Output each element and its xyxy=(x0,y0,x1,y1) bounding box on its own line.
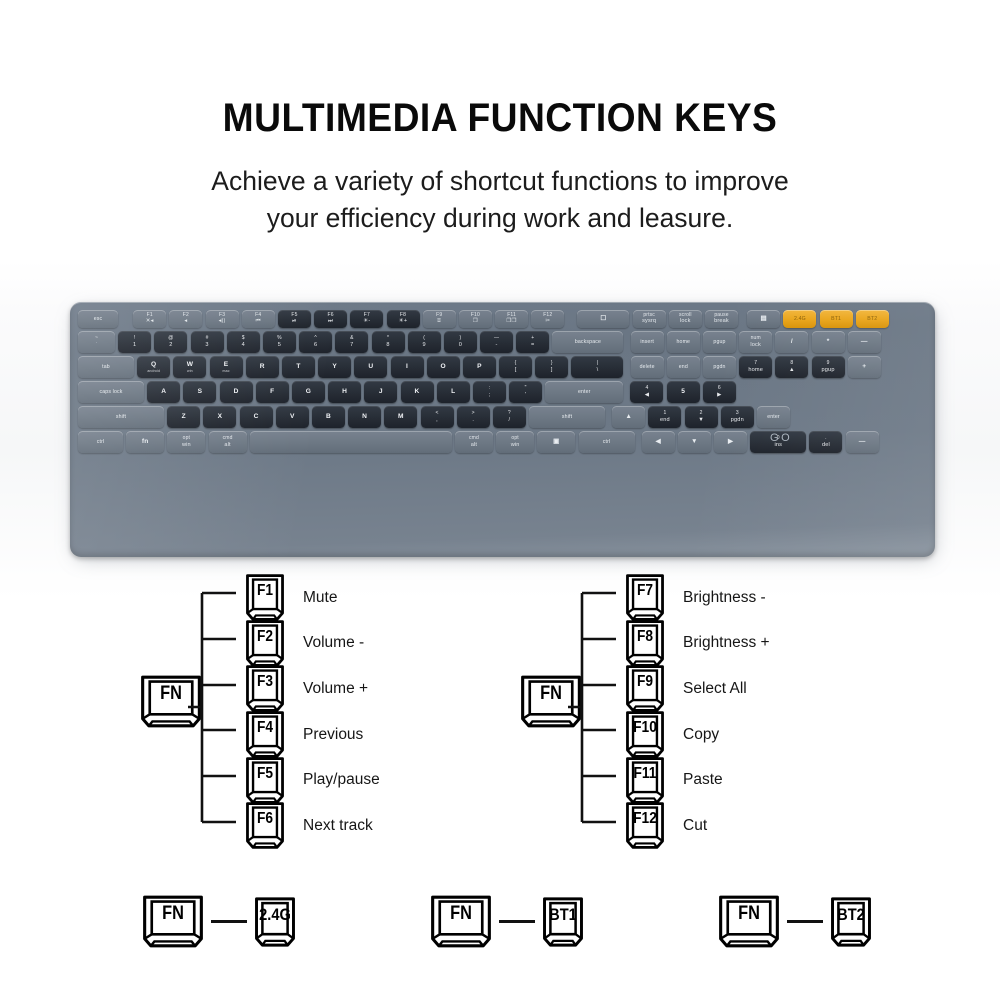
key-legend: * xyxy=(827,338,830,346)
kb-key-f2[interactable]: F2◂ xyxy=(169,310,202,328)
key-legend: ◀ xyxy=(656,438,661,446)
page-title: MULTIMEDIA FUNCTION KEYS xyxy=(35,96,965,141)
kb-key-5[interactable]: 5 xyxy=(667,381,700,403)
kb-key-home[interactable]: home xyxy=(667,331,700,353)
kb-key-cmd-alt[interactable]: cmdalt xyxy=(455,431,493,453)
key-legend: shift xyxy=(562,414,572,420)
key-legend-bottom: ✕◂ xyxy=(146,318,154,325)
key-legend: H xyxy=(342,388,347,396)
kb-key-end[interactable]: end xyxy=(667,356,700,378)
key-legend: ctrl xyxy=(603,439,611,445)
function-label: Volume - xyxy=(303,634,364,652)
brand-logo: GO xyxy=(770,432,792,444)
kb-key-f3[interactable]: F3◂)) xyxy=(206,310,239,328)
kb-key-backspace[interactable]: backspace xyxy=(552,331,623,353)
keycap-label: F1 xyxy=(248,582,282,600)
kb-key-f8[interactable]: F8☀+ xyxy=(387,310,420,328)
key-legend-bottom: ⏯ xyxy=(292,318,297,325)
keyboard-row-shift: shiftZXCVBNM<,>.?/shift▲1end2▼3pgdnenter xyxy=(78,406,793,428)
kb-key-f5[interactable]: F5⏯ xyxy=(278,310,311,328)
keycap-f10[interactable]: F10 xyxy=(625,711,665,758)
keycap-f2[interactable]: F2 xyxy=(245,620,285,667)
keycap-label: F6 xyxy=(248,810,282,828)
kb-key-cmd-alt[interactable]: cmdalt xyxy=(209,431,247,453)
kb-key-w[interactable]: Wwin xyxy=(173,356,206,378)
function-label: Previous xyxy=(303,726,363,744)
kb-key-m[interactable]: M xyxy=(384,406,417,428)
kb-key-blank[interactable]: — xyxy=(846,431,879,453)
kb-key-blank[interactable]: }] xyxy=(535,356,568,378)
kb-key-y[interactable]: Y xyxy=(318,356,351,378)
kb-key-blank[interactable]: ?/ xyxy=(493,406,526,428)
combo-2-4g: FN2.4G xyxy=(142,895,296,948)
key-legend: E xyxy=(224,361,229,369)
kb-key-blank[interactable]: ▶ xyxy=(714,431,747,453)
diagram-rows-left: F1MuteF2Volume -F3Volume +F4PreviousF5Pl… xyxy=(245,575,380,849)
key-legend-bottom: 3 xyxy=(205,342,208,349)
key-legend: D xyxy=(234,388,239,396)
kb-key-8[interactable]: *8 xyxy=(372,331,405,353)
kb-key-blank[interactable]: >. xyxy=(457,406,490,428)
key-legend: O xyxy=(441,363,446,371)
combo-bt1: FNBT1 xyxy=(430,895,584,948)
kb-key-blank[interactable]: :; xyxy=(473,381,506,403)
function-label: Next track xyxy=(303,817,373,835)
kb-key-z[interactable]: Z xyxy=(167,406,200,428)
key-legend-bottom: ❐ xyxy=(473,318,478,325)
keycap-label: F7 xyxy=(628,582,662,600)
key-legend: backspace xyxy=(575,339,601,345)
key-legend-bottom: ; xyxy=(489,392,491,399)
keycap-label: 2.4G xyxy=(257,905,293,925)
kb-key-enter[interactable]: enter xyxy=(757,406,790,428)
kb-key-blank[interactable]: * xyxy=(812,331,845,353)
key-legend-bottom: ❐❐ xyxy=(506,318,516,325)
keycap-f4[interactable]: F4 xyxy=(245,711,285,758)
kb-key-7-home[interactable]: 7home xyxy=(739,356,772,378)
connector-line xyxy=(499,920,535,923)
pairing-combos: FN2.4G FNBT1 FNBT2 xyxy=(0,895,1000,965)
key-legend-bottom: ◀ xyxy=(645,392,649,399)
key-legend-bottom: ◂ xyxy=(184,318,187,325)
kb-key-blank[interactable]: <, xyxy=(421,406,454,428)
key-legend: S xyxy=(198,388,203,396)
kb-key-1[interactable]: !1 xyxy=(118,331,151,353)
key-legend-bottom: ☀+ xyxy=(399,318,408,325)
key-legend: Y xyxy=(332,363,337,371)
kb-key-blank[interactable]: "' xyxy=(509,381,542,403)
key-legend-bottom: ' xyxy=(525,392,526,399)
kb-key-blank[interactable]: —- xyxy=(480,331,513,353)
keyboard-row-number: ~`!1@2#3$4%5^6&7*8(9)0—-+=backspaceinser… xyxy=(78,331,884,353)
diagram-row: F6Next track xyxy=(245,803,380,849)
key-legend: Z xyxy=(182,413,186,421)
tree-connector-right xyxy=(520,575,625,865)
keyboard-key-area: escF1✕◂F2◂F3◂))F4⏮F5⏯F6⏭F7☀-F8☀+F9⌸F10❐F… xyxy=(78,310,927,550)
key-legend: 5 xyxy=(681,388,685,396)
key-legend: esc xyxy=(94,316,103,322)
keycap-f11[interactable]: F11 xyxy=(625,757,665,804)
kb-key-7[interactable]: &7 xyxy=(335,331,368,353)
keycap-f6[interactable]: F6 xyxy=(245,802,285,849)
kb-key-blank[interactable]: / xyxy=(775,331,808,353)
key-legend-bottom: 1 xyxy=(133,342,136,349)
kb-key-num-lock[interactable]: numlock xyxy=(739,331,772,353)
keycap-f8[interactable]: F8 xyxy=(625,620,665,667)
diagram-row: F1Mute xyxy=(245,575,380,621)
kb-key-f7[interactable]: F7☀- xyxy=(350,310,383,328)
kb-key-blank[interactable]: + xyxy=(848,356,881,378)
kb-key-f10[interactable]: F10❐ xyxy=(459,310,492,328)
kb-key-6[interactable]: ^6 xyxy=(299,331,332,353)
kb-key-3-pgdn[interactable]: 3pgdn xyxy=(721,406,754,428)
keycap-fn[interactable]: FN xyxy=(142,895,204,948)
kb-key-9-pgup[interactable]: 9pgup xyxy=(812,356,845,378)
key-legend-bottom: = xyxy=(531,342,534,349)
kb-key-blank[interactable]: ~` xyxy=(78,331,115,353)
header: MULTIMEDIA FUNCTION KEYS Achieve a varie… xyxy=(0,0,1000,237)
key-legend-bottom: ⏮ xyxy=(256,318,261,325)
keycap-label: BT2 xyxy=(833,905,869,925)
kb-key-blank[interactable]: {[ xyxy=(499,356,532,378)
key-legend-bottom: . xyxy=(472,417,474,424)
keycap-f3[interactable]: F3 xyxy=(245,665,285,712)
key-legend-bottom: ` xyxy=(95,342,97,349)
key-legend: / xyxy=(791,338,793,346)
key-legend: ▲ xyxy=(625,413,632,421)
kb-key-j[interactable]: J xyxy=(364,381,397,403)
keycap-f1[interactable]: F1 xyxy=(245,574,285,621)
key-legend: ctrl xyxy=(97,439,105,445)
key-legend: N xyxy=(362,413,367,421)
key-legend: tab xyxy=(102,364,110,370)
key-legend: R xyxy=(260,363,265,371)
kb-key-ctrl[interactable]: ctrl xyxy=(78,431,123,453)
key-legend-bottom: - xyxy=(496,342,498,349)
kb-key-ctrl[interactable]: ctrl xyxy=(579,431,635,453)
kb-key-blank[interactable]: ▣ xyxy=(537,431,575,453)
connector-line xyxy=(211,920,247,923)
diagram-row: F11Paste xyxy=(625,757,770,803)
key-legend-bottom: ⏭ xyxy=(328,318,333,325)
kb-key-8[interactable]: 8▲ xyxy=(775,356,808,378)
kb-key-del[interactable]: .del xyxy=(809,431,842,453)
kb-key-n[interactable]: N xyxy=(348,406,381,428)
key-legend: ☐ xyxy=(600,315,606,323)
key-legend: L xyxy=(451,388,455,396)
key-legend-bottom: 0 xyxy=(459,342,462,349)
key-legend-bottom: 7 xyxy=(350,342,353,349)
kb-key-blank[interactable] xyxy=(250,431,452,453)
kb-key-r[interactable]: R xyxy=(246,356,279,378)
kb-key-6[interactable]: 6▶ xyxy=(703,381,736,403)
keycap-f5[interactable]: F5 xyxy=(245,757,285,804)
kb-key-blank[interactable]: |\ xyxy=(571,356,623,378)
kb-key-blank[interactable]: ▤ xyxy=(747,310,780,328)
key-legend: home xyxy=(677,339,691,345)
key-legend-bottom: lock xyxy=(750,342,761,349)
kb-key-v[interactable]: V xyxy=(276,406,309,428)
keycap-fn[interactable]: FN xyxy=(430,895,492,948)
key-legend: A xyxy=(161,388,166,396)
keycap-label: F4 xyxy=(248,719,282,737)
kb-key-5[interactable]: %5 xyxy=(263,331,296,353)
key-legend: pgdn xyxy=(713,364,725,370)
kb-key-k[interactable]: K xyxy=(401,381,434,403)
kb-key-shift[interactable]: shift xyxy=(529,406,605,428)
keycap-label: F9 xyxy=(628,673,662,691)
kb-key-fn[interactable]: fn xyxy=(126,431,164,453)
kb-key-p[interactable]: P xyxy=(463,356,496,378)
keycap-label: FN xyxy=(722,903,775,925)
key-legend-bottom: home xyxy=(748,367,763,374)
function-label: Mute xyxy=(303,589,337,607)
key-legend: V xyxy=(290,413,295,421)
key-legend-bottom: \ xyxy=(597,367,599,374)
key-legend: J xyxy=(379,388,383,396)
kb-key-a[interactable]: A xyxy=(147,381,180,403)
key-legend: enter xyxy=(578,389,591,395)
kb-key-bt2[interactable]: · ☐BT2 xyxy=(856,310,889,328)
diagram-row: F9Select All xyxy=(625,666,770,712)
key-legend-bottom: / xyxy=(509,417,511,424)
function-label: Brightness - xyxy=(683,589,766,607)
kb-key-blank[interactable]: += xyxy=(516,331,549,353)
keycap-2-4g[interactable]: 2.4G xyxy=(254,897,296,947)
key-legend-bottom: 4 xyxy=(242,342,245,349)
key-legend-bottom: del xyxy=(822,442,830,449)
kb-key-0[interactable]: )0 xyxy=(444,331,477,353)
key-legend: ▶ xyxy=(728,438,733,446)
key-legend-bottom: ▼ xyxy=(698,417,704,424)
kb-key-insert[interactable]: insert xyxy=(631,331,664,353)
keyboard-body: escF1✕◂F2◂F3◂))F4⏮F5⏯F6⏭F7☀-F8☀+F9⌸F10❐F… xyxy=(70,302,935,557)
kb-key-blank[interactable]: ☐ xyxy=(577,310,629,328)
keyboard-row-qwerty: tabQandroidWwinEmacRTYUIOP{[}]|\deleteen… xyxy=(78,356,884,378)
keycap-f9[interactable]: F9 xyxy=(625,665,665,712)
keycap-label: F3 xyxy=(248,673,282,691)
kb-key-h[interactable]: H xyxy=(328,381,361,403)
keycap-bt2[interactable]: BT2 xyxy=(830,897,872,947)
kb-key-scroll-lock[interactable]: scrolllock xyxy=(669,310,702,328)
key-legend: fn xyxy=(142,438,149,446)
key-legend-bottom: ] xyxy=(551,367,553,374)
kb-key-delete[interactable]: delete xyxy=(631,356,664,378)
kb-key-4[interactable]: 4◀ xyxy=(630,381,663,403)
kb-key-t[interactable]: T xyxy=(282,356,315,378)
key-legend-bottom: alt xyxy=(471,442,477,449)
kb-key-g[interactable]: G xyxy=(292,381,325,403)
key-legend-bottom: break xyxy=(714,318,729,325)
keycap-label: F2 xyxy=(248,628,282,646)
combo-bt2: FNBT2 xyxy=(718,895,872,948)
key-legend-bottom: end xyxy=(660,417,670,424)
key-legend: F xyxy=(270,388,274,396)
kb-key-9[interactable]: (9 xyxy=(408,331,441,353)
key-legend: M xyxy=(398,413,404,421)
kb-key-f6[interactable]: F6⏭ xyxy=(314,310,347,328)
key-legend-bottom: win xyxy=(511,442,520,449)
key-legend-bottom: pgup xyxy=(822,367,835,374)
key-legend: end xyxy=(679,364,688,370)
key-legend: BT1 xyxy=(831,316,841,322)
tree-connector-left xyxy=(140,575,245,865)
key-legend: shift xyxy=(116,414,126,420)
keycap-f12[interactable]: F12 xyxy=(625,802,665,849)
key-legend-bottom: alt xyxy=(224,442,230,449)
kb-key-4[interactable]: $4 xyxy=(227,331,260,353)
kb-key-blank[interactable]: — xyxy=(848,331,881,353)
key-legend: X xyxy=(218,413,223,421)
function-key-diagram: FN F1MuteF2Volume -F3Volume +F4PreviousF… xyxy=(0,575,1000,875)
kb-key-2[interactable]: 2▼ xyxy=(685,406,718,428)
connector-line xyxy=(787,920,823,923)
keycap-f7[interactable]: F7 xyxy=(625,574,665,621)
key-legend-bottom: ☀- xyxy=(363,318,370,325)
kb-key-f1[interactable]: F1✕◂ xyxy=(133,310,166,328)
key-legend: insert xyxy=(640,339,654,345)
key-legend: W xyxy=(187,361,193,369)
keycap-label: BT1 xyxy=(545,905,581,925)
key-legend-bottom: ▲ xyxy=(789,367,795,374)
key-legend: pgup xyxy=(713,339,725,345)
kb-key-tab[interactable]: tab xyxy=(78,356,134,378)
kb-key-f9[interactable]: F9⌸ xyxy=(423,310,456,328)
key-sublegend: android xyxy=(147,369,160,373)
kb-key-e[interactable]: Emac xyxy=(210,356,243,378)
kb-key-o[interactable]: O xyxy=(427,356,460,378)
subtitle-line-2: your efficiency during work and leasure. xyxy=(0,200,1000,237)
function-label: Cut xyxy=(683,817,707,835)
key-legend-bottom: sysrq xyxy=(642,318,656,325)
keyboard-row-home: caps lockASDFGHJKL:;"'enter4◀56▶ xyxy=(78,381,739,403)
kb-key-d[interactable]: D xyxy=(220,381,253,403)
key-legend: Q xyxy=(151,361,156,369)
kb-key-s[interactable]: S xyxy=(183,381,216,403)
kb-key-u[interactable]: U xyxy=(354,356,387,378)
keycap-label: FN xyxy=(434,903,487,925)
function-label: Play/pause xyxy=(303,771,380,789)
key-legend: BT2 xyxy=(867,316,877,322)
keyboard-row-bottom: ctrlfnoptwincmdaltcmdaltoptwin▣ctrl◀▼▶0i… xyxy=(78,431,882,453)
keycap-label: FN xyxy=(146,903,199,925)
key-legend: ▣ xyxy=(553,438,559,446)
kb-key-3[interactable]: #3 xyxy=(191,331,224,353)
key-legend: G xyxy=(306,388,311,396)
kb-key-blank[interactable]: ▼ xyxy=(678,431,711,453)
kb-key-f11[interactable]: F11❐❐ xyxy=(495,310,528,328)
key-legend-bottom: 6 xyxy=(314,342,317,349)
kb-key-f[interactable]: F xyxy=(256,381,289,403)
function-label: Volume + xyxy=(303,680,368,698)
kb-key-opt-win[interactable]: optwin xyxy=(496,431,534,453)
keycap-label: F10 xyxy=(628,719,662,737)
kb-key-shift[interactable]: shift xyxy=(78,406,164,428)
key-legend-bottom: ◂)) xyxy=(219,318,226,325)
page-root: MULTIMEDIA FUNCTION KEYS Achieve a varie… xyxy=(0,0,1000,1000)
kb-key-2-4g[interactable]: · ☐2.4G xyxy=(783,310,816,328)
diagram-row: F4Previous xyxy=(245,712,380,758)
diagram-row: F10Copy xyxy=(625,712,770,758)
function-label: Paste xyxy=(683,771,723,789)
kb-key-esc[interactable]: esc xyxy=(78,310,118,328)
keycap-label: F8 xyxy=(628,628,662,646)
key-legend-bottom: 8 xyxy=(386,342,389,349)
key-legend: C xyxy=(254,413,259,421)
kb-key-blank[interactable]: ▲ xyxy=(612,406,645,428)
key-legend-bottom: ⌸ xyxy=(437,318,441,325)
kb-key-2[interactable]: @2 xyxy=(154,331,187,353)
key-legend: ▤ xyxy=(760,315,766,323)
kb-key-pgup[interactable]: pgup xyxy=(703,331,736,353)
kb-key-1-end[interactable]: 1end xyxy=(648,406,681,428)
key-legend: — xyxy=(859,438,866,446)
key-legend-bottom: [ xyxy=(515,367,517,374)
key-legend: P xyxy=(477,363,482,371)
keycap-bt1[interactable]: BT1 xyxy=(542,897,584,947)
key-sublegend: win xyxy=(187,369,193,373)
keyboard-row-function: escF1✕◂F2◂F3◂))F4⏮F5⏯F6⏭F7☀-F8☀+F9⌸F10❐F… xyxy=(78,310,892,328)
key-legend: K xyxy=(415,388,420,396)
diagram-row: F2Volume - xyxy=(245,621,380,667)
kb-key-f4[interactable]: F4⏮ xyxy=(242,310,275,328)
key-legend: — xyxy=(861,338,868,346)
kb-key-q[interactable]: Qandroid xyxy=(137,356,170,378)
function-label: Copy xyxy=(683,726,719,744)
diagram-row: F8Brightness + xyxy=(625,621,770,667)
key-legend: caps lock xyxy=(100,389,123,395)
key-legend-bottom: lock xyxy=(680,318,691,325)
key-legend: delete xyxy=(640,364,655,370)
key-legend-bottom: win xyxy=(182,442,191,449)
key-legend: B xyxy=(326,413,331,421)
key-legend-bottom: ▶ xyxy=(717,392,721,399)
kb-key-enter[interactable]: enter xyxy=(545,381,623,403)
diagram-rows-right: F7Brightness -F8Brightness +F9Select All… xyxy=(625,575,770,849)
kb-key-opt-win[interactable]: optwin xyxy=(167,431,205,453)
key-legend: U xyxy=(368,363,373,371)
key-legend: I xyxy=(406,363,408,371)
keycap-fn[interactable]: FN xyxy=(718,895,780,948)
kb-key-b[interactable]: B xyxy=(312,406,345,428)
diagram-row: F7Brightness - xyxy=(625,575,770,621)
kb-key-bt1[interactable]: · ☐BT1 xyxy=(820,310,853,328)
page-subtitle: Achieve a variety of shortcut functions … xyxy=(0,163,1000,237)
kb-key-l[interactable]: L xyxy=(437,381,470,403)
kb-key-c[interactable]: C xyxy=(240,406,273,428)
keycap-label: F5 xyxy=(248,765,282,783)
keyboard-photo: escF1✕◂F2◂F3◂))F4⏮F5⏯F6⏭F7☀-F8☀+F9⌸F10❐F… xyxy=(70,302,935,557)
key-legend: ▼ xyxy=(691,438,698,446)
key-legend: enter xyxy=(767,414,780,420)
diagram-row: F12Cut xyxy=(625,803,770,849)
kb-key-x[interactable]: X xyxy=(203,406,236,428)
kb-key-caps-lock[interactable]: caps lock xyxy=(78,381,144,403)
key-legend-bottom: , xyxy=(436,417,438,424)
function-label: Select All xyxy=(683,680,747,698)
key-legend: 2.4G xyxy=(794,316,806,322)
kb-key-pause-break[interactable]: pausebreak xyxy=(705,310,738,328)
function-label: Brightness + xyxy=(683,634,770,652)
kb-key-i[interactable]: I xyxy=(391,356,424,378)
kb-key-prtsc-sysrq[interactable]: prtscsysrq xyxy=(633,310,666,328)
kb-key-pgdn[interactable]: pgdn xyxy=(703,356,736,378)
keycap-label: F11 xyxy=(628,765,662,783)
subtitle-line-1: Achieve a variety of shortcut functions … xyxy=(0,163,1000,200)
kb-key-blank[interactable]: ◀ xyxy=(642,431,675,453)
key-legend: + xyxy=(862,363,866,371)
kb-key-f12[interactable]: F12✂ xyxy=(531,310,564,328)
